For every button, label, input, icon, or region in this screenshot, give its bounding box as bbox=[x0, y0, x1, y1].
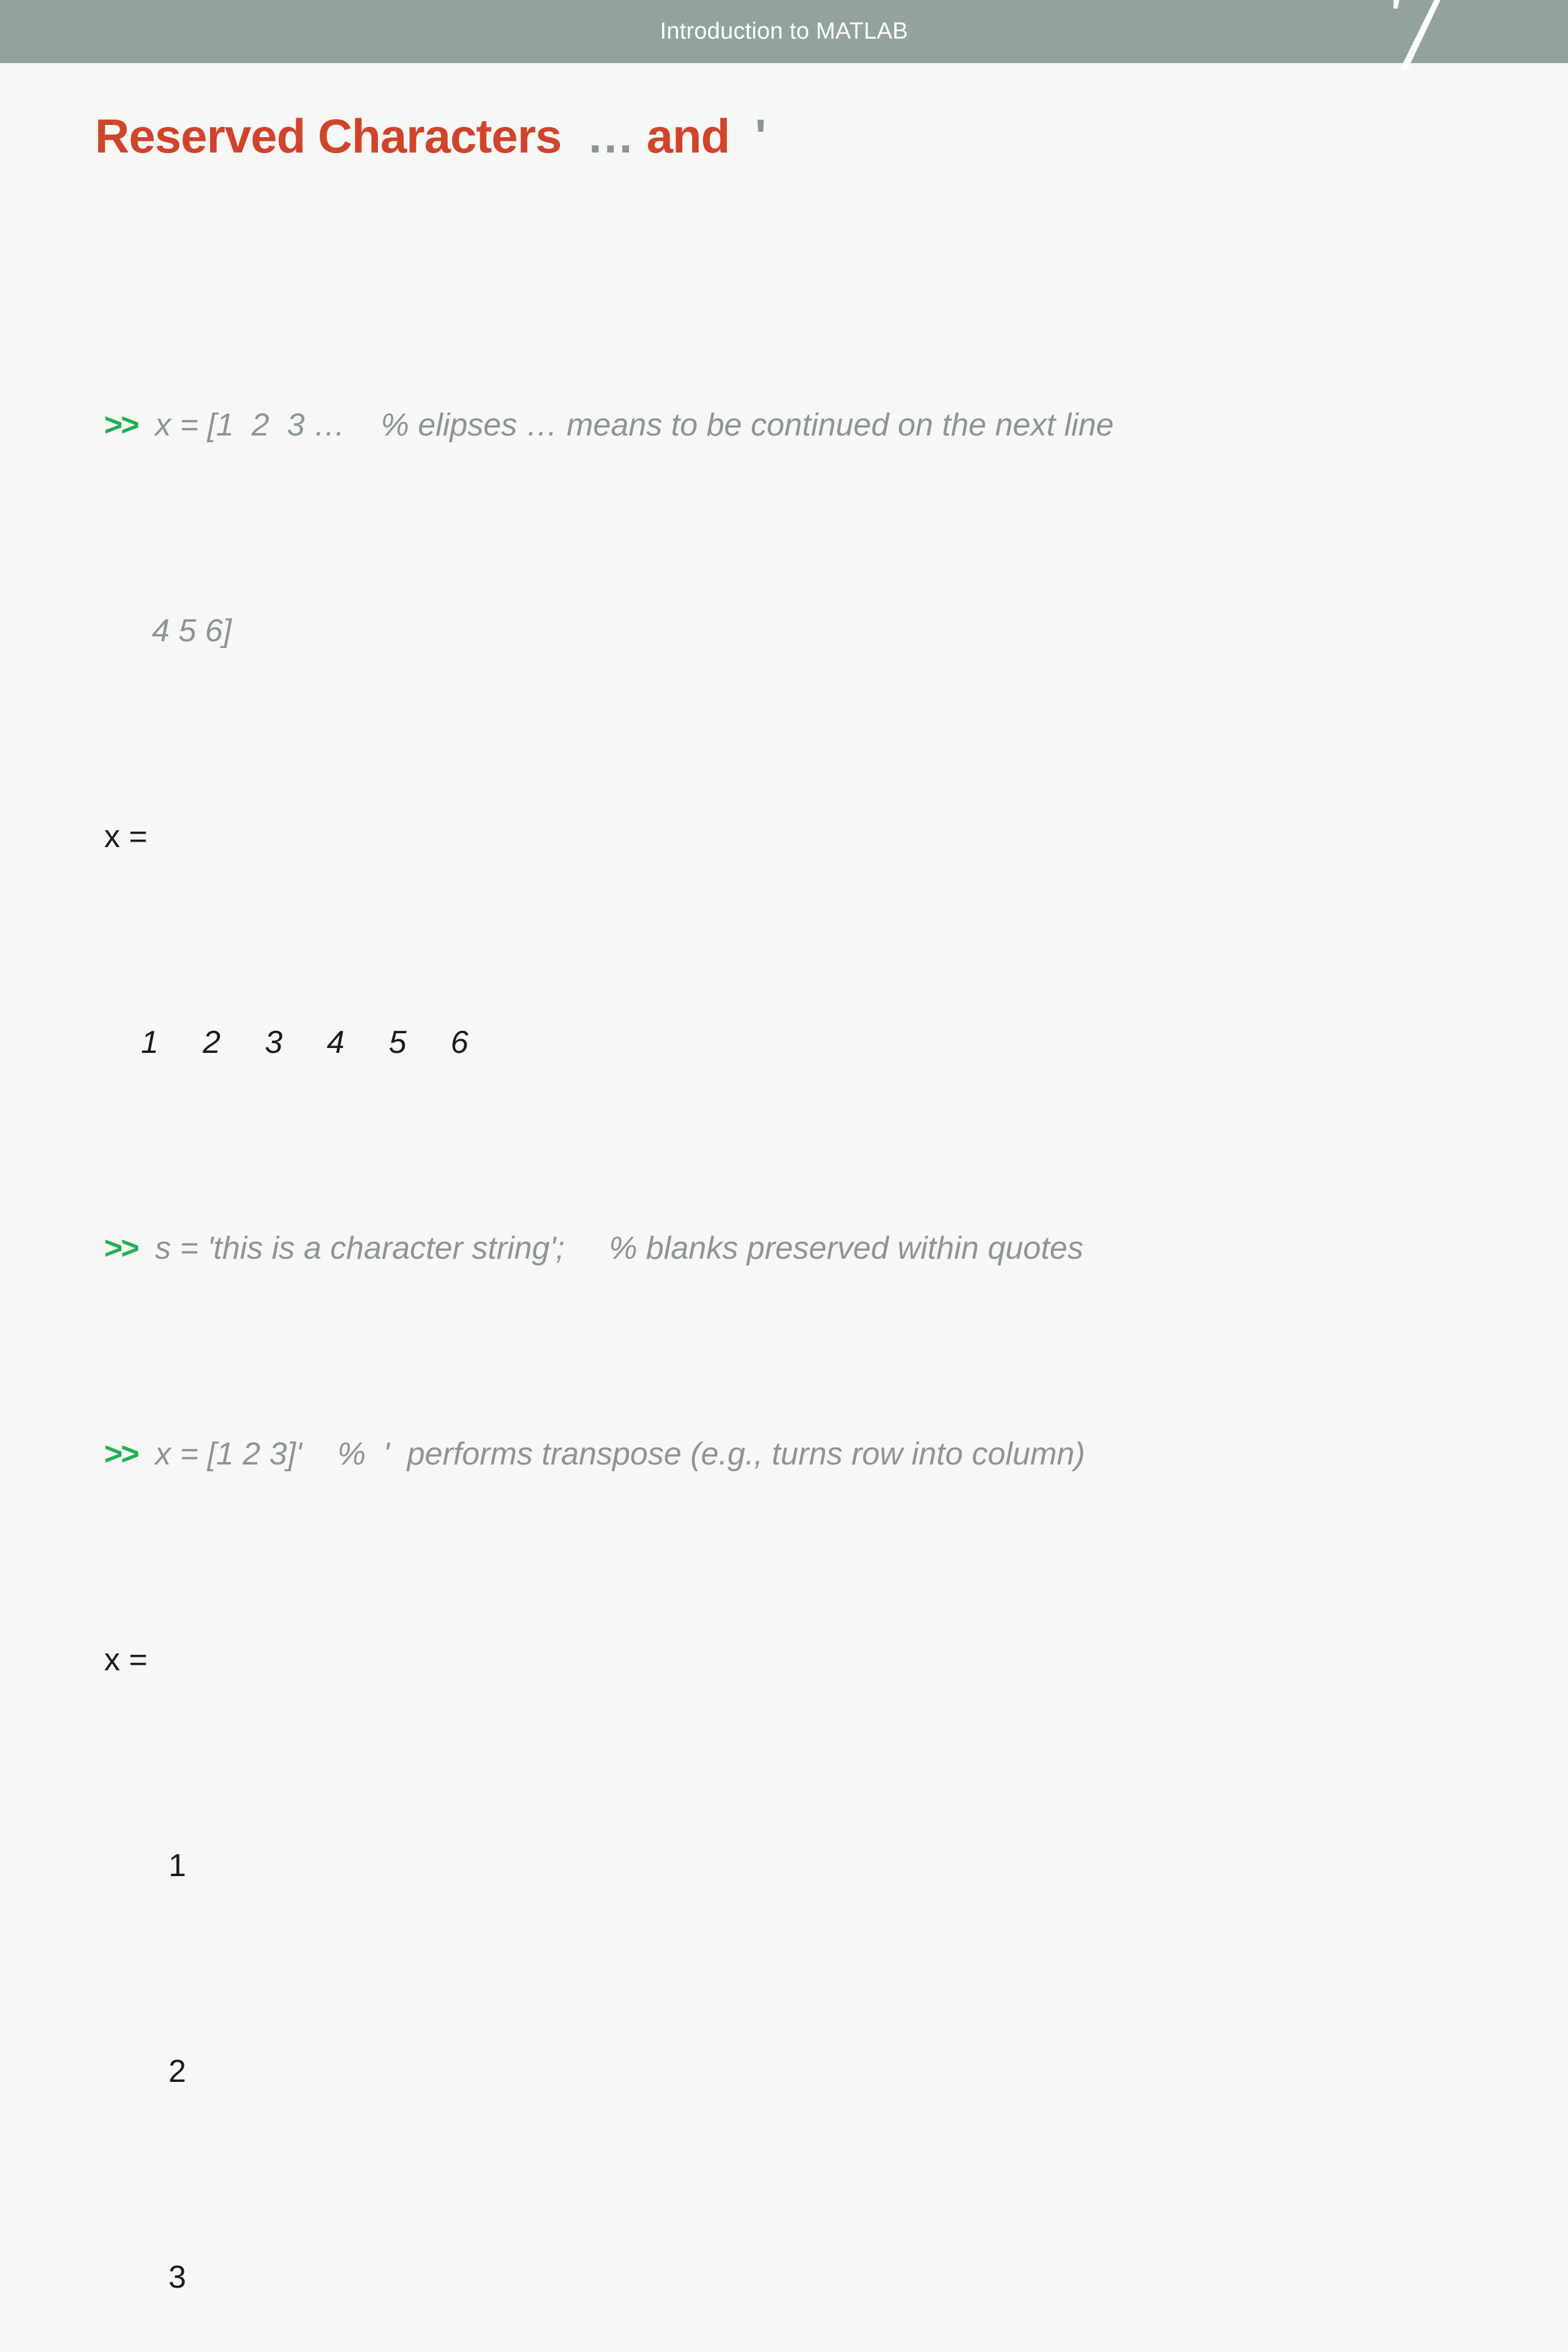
console-output-value: 3 bbox=[168, 2260, 186, 2295]
console-line: 3 bbox=[104, 2252, 1531, 2303]
prompt-marker: >> bbox=[104, 1231, 138, 1266]
console-code: s = 'this is a character string'; % blan… bbox=[146, 1231, 1084, 1266]
slide-title-apostrophe: ' bbox=[729, 109, 766, 163]
console-line: 4 5 6] bbox=[104, 605, 1531, 657]
slide-header-bar: Introduction to MATLAB bbox=[0, 0, 1568, 63]
console-line: x = bbox=[104, 1634, 1531, 1686]
console-code: x = [1 2 3]' % ' performs transpose (e.g… bbox=[146, 1436, 1085, 1472]
console-line: 1 2 3 4 5 6 bbox=[104, 1017, 1531, 1068]
console-output-value: 2 bbox=[168, 2054, 186, 2089]
console-line: >> s = 'this is a character string'; % b… bbox=[104, 1223, 1531, 1274]
slide-title: Reserved Characters … and ' bbox=[95, 111, 766, 162]
console-line: 2 bbox=[104, 2046, 1531, 2097]
console-output-row: 1 2 3 4 5 6 bbox=[141, 1025, 469, 1060]
slide-title-main: Reserved Characters bbox=[95, 109, 561, 163]
slide-title-ellipsis: … bbox=[561, 109, 646, 163]
console-line: >> x = [1 2 3 … % elipses … means to be … bbox=[104, 399, 1531, 451]
header-title-text: Introduction to MATLAB bbox=[0, 0, 1568, 63]
console-output-value: 1 bbox=[168, 1848, 186, 1883]
console-line: x = bbox=[104, 811, 1531, 862]
slide-title-and: and bbox=[646, 109, 729, 163]
prompt-marker: >> bbox=[104, 407, 138, 443]
console-output-label: x = bbox=[104, 1642, 148, 1678]
console-code: x = [1 2 3 … % elipses … means to be con… bbox=[146, 407, 1114, 443]
matlab-console-transcript: >> x = [1 2 3 … % elipses … means to be … bbox=[104, 245, 1531, 2352]
prompt-marker: >> bbox=[104, 1436, 138, 1472]
console-line: >> x = [1 2 3]' % ' performs transpose (… bbox=[104, 1428, 1531, 1480]
console-code-continuation: 4 5 6] bbox=[152, 613, 232, 649]
console-line: 1 bbox=[104, 1840, 1531, 1891]
console-output-label: x = bbox=[104, 819, 148, 854]
